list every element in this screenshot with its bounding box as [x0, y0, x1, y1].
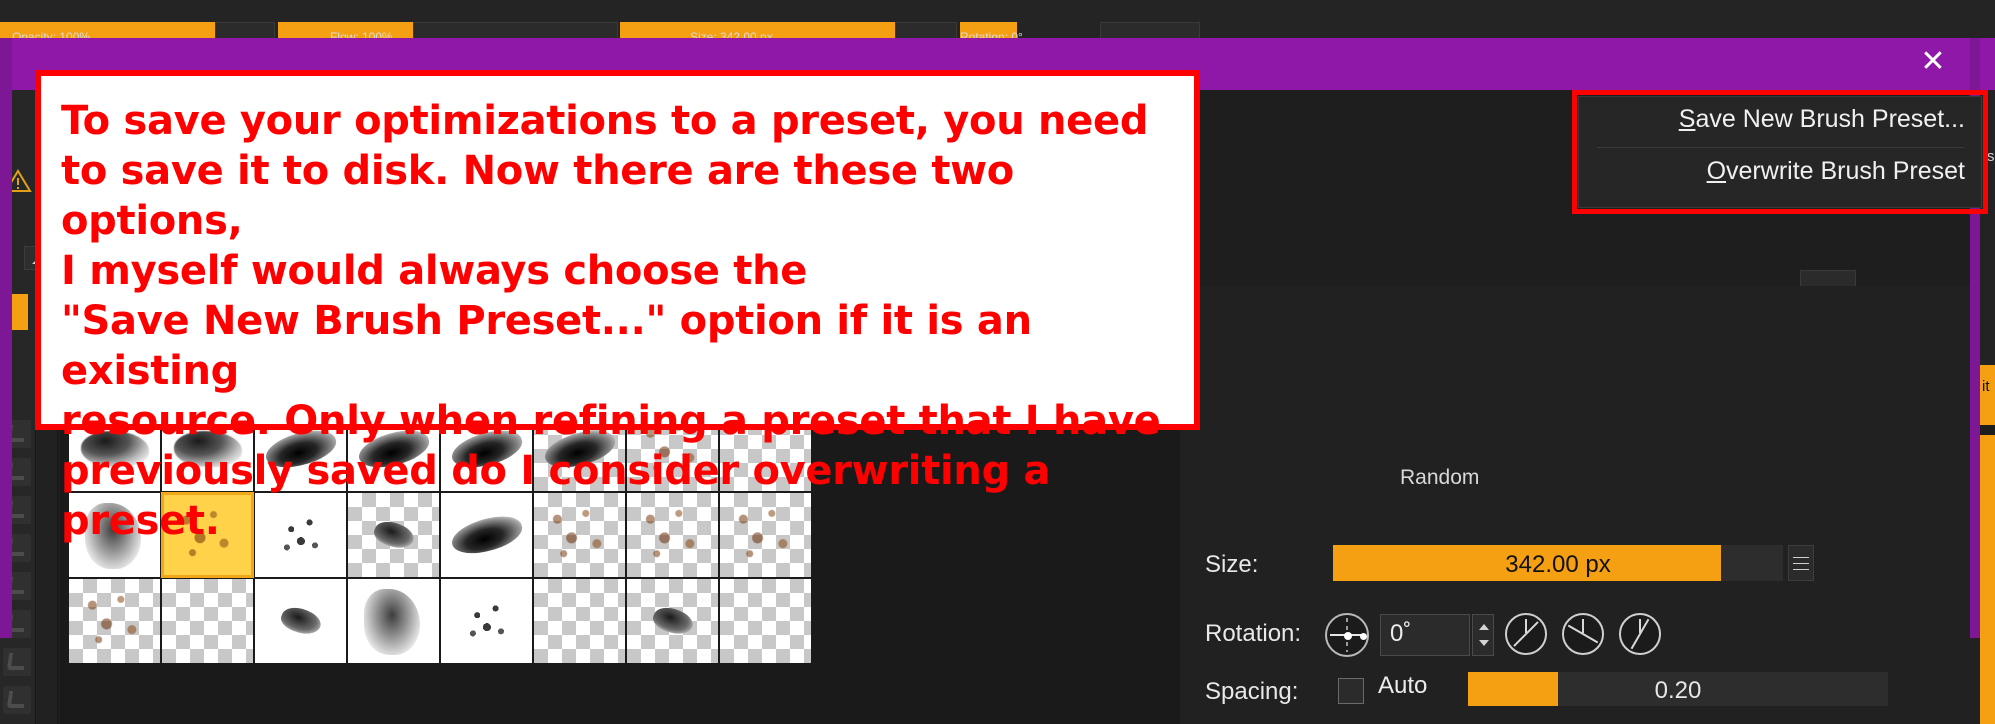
rotation-dial-icon[interactable] — [1325, 613, 1369, 657]
tool-button-8[interactable] — [3, 686, 31, 714]
annotation-highlight-box-menu — [1572, 90, 1988, 214]
size-stepper[interactable] — [1788, 545, 1814, 581]
right-edge-orange-2[interactable] — [1980, 435, 1995, 724]
rotation-label: Rotation: — [1205, 620, 1301, 648]
annotation-line: resource. Only when refining a preset th… — [61, 396, 1181, 446]
brush-tool-icon — [7, 691, 26, 708]
brush-preset-cell[interactable] — [533, 578, 626, 664]
rotation-value: 0˚ — [1390, 620, 1411, 648]
transparency-checker — [162, 579, 253, 663]
annotation-line: "Save New Brush Preset..." option if it … — [61, 296, 1181, 396]
window-border-left — [0, 38, 12, 638]
rotation-spinner[interactable] — [1472, 614, 1494, 656]
brush-preset-cell[interactable] — [254, 578, 347, 664]
spacing-label: Spacing: — [1205, 678, 1298, 706]
spacing-value: 0.20 — [1468, 677, 1888, 705]
brush-preset-cell[interactable] — [68, 578, 161, 664]
brush-thumb — [75, 585, 154, 657]
brush-preset-cell[interactable] — [626, 578, 719, 664]
spacing-auto-checkbox[interactable] — [1338, 678, 1364, 704]
annotation-line: to save it to disk. Now there are these … — [61, 146, 1181, 246]
brush-preset-cell[interactable] — [440, 578, 533, 664]
transparency-checker — [720, 579, 811, 663]
right-edge-orange-1[interactable] — [1980, 365, 1995, 425]
size-label: Size: — [1205, 551, 1258, 579]
annotation-line: To save your optimizations to a preset, … — [61, 96, 1181, 146]
random-label: Random — [1400, 466, 1479, 490]
annotation-note-box: To save your optimizations to a preset, … — [35, 70, 1200, 430]
brush-thumb — [364, 589, 420, 655]
annotation-note-text: To save your optimizations to a preset, … — [61, 96, 1181, 546]
app-window: Opacity: 100% Flow: 100% Size: 342.00 px… — [0, 0, 1995, 724]
rotation-preset-2-icon[interactable] — [1562, 613, 1604, 655]
brush-tool-icon — [7, 653, 26, 670]
top-toolbar: Opacity: 100% Flow: 100% Size: 342.00 px… — [0, 0, 1995, 40]
transparency-checker — [534, 579, 625, 663]
right-edge-label-2: it — [1982, 378, 1990, 395]
brush-thumb — [278, 602, 324, 639]
annotation-line: I myself would always choose the — [61, 246, 1181, 296]
annotation-line: previously saved do I consider overwriti… — [61, 446, 1181, 546]
brush-thumb — [461, 597, 515, 649]
rotation-preset-1-icon[interactable] — [1505, 613, 1547, 655]
rotation-preset-3-icon[interactable] — [1619, 613, 1661, 655]
tool-button-7[interactable] — [3, 648, 31, 676]
brush-options-panel — [1180, 286, 1980, 724]
size-value: 342.00 px — [1333, 551, 1783, 579]
close-icon[interactable]: ✕ — [1913, 42, 1953, 82]
brush-preset-cell[interactable] — [719, 578, 812, 664]
spacing-auto-label: Auto — [1378, 672, 1427, 700]
brush-preset-cell[interactable] — [347, 578, 440, 664]
brush-preset-cell[interactable] — [161, 578, 254, 664]
